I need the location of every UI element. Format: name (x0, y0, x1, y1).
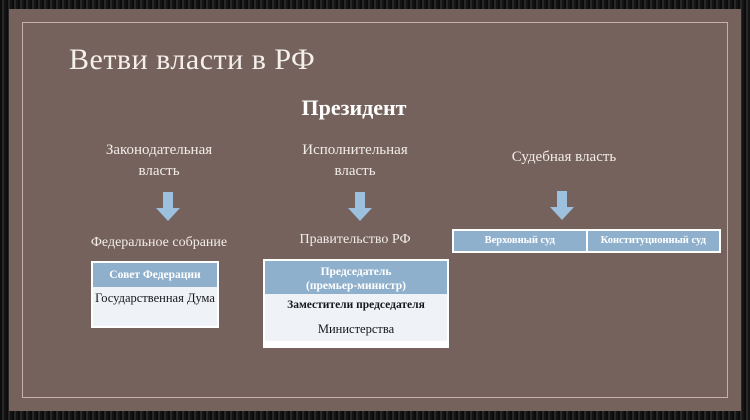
organ-label-government: Правительство РФ (267, 232, 443, 248)
table-row: Государственная Дума (93, 287, 217, 326)
slide-canvas: Ветви власти в РФ Президент Законодатель… (9, 9, 741, 411)
table-cell-supreme-court: Верховный суд (454, 231, 586, 251)
table-federal-assembly: Совет Федерации Государственная Дума (91, 261, 219, 328)
table-courts: Верховный суд Конституционный суд (452, 229, 721, 253)
branch-label-executive-line1: Исполнительная (302, 142, 407, 158)
table-row: Председатель (премьер-министр) (265, 261, 447, 294)
page-title: Ветви власти в РФ (69, 43, 315, 77)
branch-label-executive: Исполнительная власть (267, 140, 443, 183)
presentation-slide: Ветви власти в РФ Президент Законодатель… (0, 0, 750, 420)
table-cell-constitutional-court: Конституционный суд (586, 231, 720, 251)
down-arrow-icon-executive (347, 192, 373, 222)
table-cell-chairman-line1: Председатель (321, 266, 392, 278)
branch-label-legislative: Законодательная власть (71, 140, 247, 183)
branch-label-legislative-line1: Законодательная (106, 142, 212, 158)
table-row: Совет Федерации (93, 263, 217, 287)
table-row: Заместители председателя (265, 294, 447, 317)
branch-label-executive-line2: власть (334, 163, 375, 179)
branch-label-judicial: Судебная власть (474, 147, 654, 168)
down-arrow-icon-legislative (155, 192, 181, 222)
table-cell-chairman-line2: (премьер-министр) (306, 280, 406, 292)
organ-label-federal-assembly: Федеральное собрание (71, 235, 247, 251)
branch-label-legislative-line2: власть (138, 163, 179, 179)
table-government: Председатель (премьер-министр) Заместите… (263, 259, 449, 348)
down-arrow-icon-judicial (549, 191, 575, 221)
president-heading: Президент (259, 95, 449, 121)
table-row: Министерства (265, 317, 447, 341)
